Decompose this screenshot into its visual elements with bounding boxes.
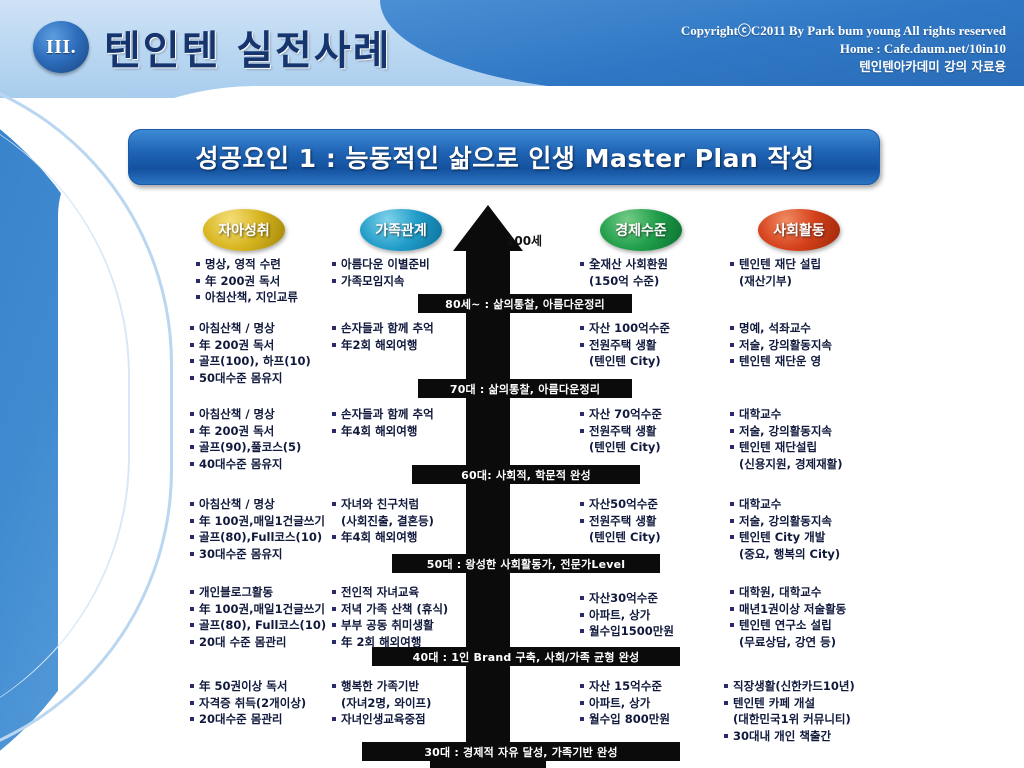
list-item: 손자들과 함께 추억 [332,406,434,423]
list-item: 직장생활(신한카드10년) [724,678,855,695]
list-item: 골프(80),Full코스(10) [190,529,325,546]
cell-social-row4: 대학원, 대학교수 매년1권이상 저술활동 텐인텐 연구소 설립 (무료상담, … [730,584,846,650]
list-item: 텐인텐 재단설립 [730,439,843,456]
list-item: 명예, 석좌교수 [730,320,832,337]
list-item: 손자들과 함께 추억 [332,320,434,337]
arrow-age-label: 100세 [506,232,542,249]
list-item: 전원주택 생활 [580,423,662,440]
list-item: 자산50억수준 [580,496,661,513]
cell-economy-row2: 자산 70억수준 전원주택 생활 (텐인텐 City) [580,406,662,456]
list-item: 자산 100억수준 [580,320,670,337]
list-item: 50대수준 몸유지 [190,370,311,387]
cell-family-row3: 자녀와 친구처럼 (사회진출, 결혼등) 年4회 해외여행 [332,496,434,546]
copyright-line-2: Home : Cafe.daum.net/10in10 [681,40,1006,58]
list-item-sub: (재산기부) [730,273,821,290]
list-item: 年 50권이상 독서 [190,678,306,695]
cell-family-row5: 행복한 가족기반 (자녀2명, 와이프) 자녀인생교육중점 [332,678,431,728]
column-header-label: 가족관계 [375,220,427,240]
list-item: 텐인텐 연구소 설립 [730,617,846,634]
list-item: 아침산책 / 명상 [190,496,325,513]
list-item: 가족모임지속 [332,273,430,290]
list-item: 年 2회 해외여행 [332,634,448,651]
list-item: 40대수준 몸유지 [190,456,301,473]
list-item: 텐인텐 재단 설립 [730,256,821,273]
age-band-80s: 80세~ : 삶의통찰, 아름다운정리 [418,294,632,313]
list-item: 월수입 800만원 [580,711,670,728]
list-item: 행복한 가족기반 [332,678,431,695]
cell-self-row3: 아침산책 / 명상 年 100권,매일1건글쓰기 골프(80),Full코스(1… [190,496,325,562]
list-item: 대학교수 [730,496,840,513]
list-item: 아파트, 상가 [580,607,674,624]
cell-family-row1: 손자들과 함께 추억 年2회 해외여행 [332,320,434,353]
age-band-30s: 30대 : 경제적 자유 달성, 가족기반 완성 [362,742,680,761]
cell-self-row2: 아침산책 / 명상 年 200권 독서 골프(90),풀코스(5) 40대수준 … [190,406,301,472]
copyright-block: CopyrightⓒC2011 By Park bum young All ri… [681,22,1006,76]
cell-economy-row5: 자산 15억수준 아파트, 상가 월수입 800만원 [580,678,670,728]
list-item-sub: (대한민국1위 커뮤니티) [724,711,855,728]
section-number-label: III. [33,21,89,73]
timeline-arrow-stem [466,246,510,756]
list-item: 대학교수 [730,406,843,423]
list-item: 年4회 해외여행 [332,529,434,546]
subtitle-text: 성공요인 1 : 능동적인 삶으로 인생 Master Plan 작성 [129,130,881,184]
list-item: 20대수준 몸관리 [190,711,306,728]
cell-self-row0: 명상, 영적 수련 年 200권 독서 아침산책, 지인교류 [196,256,298,306]
column-header-label: 자아성취 [218,220,270,240]
list-item-sub: (중요, 행복의 City) [730,546,840,563]
list-item-sub: (150억 수준) [580,273,668,290]
cell-social-row0: 텐인텐 재단 설립 (재산기부) [730,256,821,289]
cell-social-row3: 대학교수 저술, 강의활동지속 텐인텐 City 개발 (중요, 행복의 Cit… [730,496,840,562]
list-item-sub: (신용지원, 경제재활) [730,456,843,473]
cell-social-row5: 직장생활(신한카드10년) 텐인텐 카페 개설 (대한민국1위 커뮤니티) 30… [724,678,855,744]
cell-self-row1: 아침산책 / 명상 年 200권 독서 골프(100), 하프(10) 50대수… [190,320,311,386]
list-item: 자산 70억수준 [580,406,662,423]
list-item: 자산30억수준 [580,590,674,607]
column-header-economic-level: 경제수준 [600,209,682,251]
list-item: 年 100권,매일1건글쓰기 [190,601,326,618]
cell-social-row1: 명예, 석좌교수 저술, 강의활동지속 텐인텐 재단운 영 [730,320,832,370]
list-item: 全재산 사회환원 [580,256,668,273]
list-item: 아파트, 상가 [580,695,670,712]
list-item: 자녀와 친구처럼 [332,496,434,513]
list-item: 골프(80), Full코스(10) [190,617,326,634]
list-item: 텐인텐 City 개발 [730,529,840,546]
list-item: 年2회 해외여행 [332,337,434,354]
cell-family-row0: 아름다운 이별준비 가족모임지속 [332,256,430,289]
copyright-line-1: CopyrightⓒC2011 By Park bum young All ri… [681,22,1006,40]
list-item: 월수입1500만원 [580,623,674,640]
cell-social-row2: 대학교수 저술, 강의활동지속 텐인텐 재단설립 (신용지원, 경제재활) [730,406,843,472]
list-item-sub: (텐인텐 City) [580,439,662,456]
column-header-label: 경제수준 [615,220,667,240]
list-item-sub: (사회진출, 결혼등) [332,513,434,530]
column-header-self-achievement: 자아성취 [203,209,285,251]
list-item: 텐인텐 재단운 영 [730,353,832,370]
list-item: 年 100권,매일1건글쓰기 [190,513,325,530]
column-header-social-activity: 사회활동 [758,209,840,251]
list-item: 자격증 취득(2개이상) [190,695,306,712]
list-item: 年 200권 독서 [190,423,301,440]
cell-family-row4: 전인적 자녀교육 저녁 가족 산책 (휴식) 부부 공동 취미생활 年 2회 해… [332,584,448,650]
list-item: 저술, 강의활동지속 [730,337,832,354]
list-item: 골프(100), 하프(10) [190,353,311,370]
list-item: 저녁 가족 산책 (휴식) [332,601,448,618]
copyright-line-3: 텐인텐아카데미 강의 자료용 [681,58,1006,76]
list-item: 텐인텐 카페 개설 [724,695,855,712]
list-item-sub: (자녀2명, 와이프) [332,695,431,712]
list-item: 개인블로그활동 [190,584,326,601]
list-item: 명상, 영적 수련 [196,256,298,273]
list-item: 부부 공동 취미생활 [332,617,448,634]
cell-economy-row0: 全재산 사회환원 (150억 수준) [580,256,668,289]
section-number-badge: III. [33,21,89,73]
list-item: 아름다운 이별준비 [332,256,430,273]
list-item: 아침산책 / 명상 [190,406,301,423]
cell-economy-row3: 자산50억수준 전원주택 생활 (텐인텐 City) [580,496,661,546]
list-item: 年4회 해외여행 [332,423,434,440]
list-item: 자녀인생교육중점 [332,711,431,728]
cell-self-row4: 개인블로그활동 年 100권,매일1건글쓰기 골프(80), Full코스(10… [190,584,326,650]
list-item: 저술, 강의활동지속 [730,423,843,440]
list-item: 자산 15억수준 [580,678,670,695]
list-item: 저술, 강의활동지속 [730,513,840,530]
list-item: 아침산책 / 명상 [190,320,311,337]
list-item: 20대 수준 몸관리 [190,634,326,651]
list-item: 年 200권 독서 [196,273,298,290]
list-item-sub: (텐인텐 City) [580,353,670,370]
cell-self-row5: 年 50권이상 독서 자격증 취득(2개이상) 20대수준 몸관리 [190,678,306,728]
list-item: 아침산책, 지인교류 [196,289,298,306]
age-band-70s: 70대 : 삶의통찰, 아름다운정리 [418,379,632,398]
cell-economy-row4: 자산30억수준 아파트, 상가 월수입1500만원 [580,590,674,640]
list-item: 매년1권이상 저술활동 [730,601,846,618]
column-header-family-relations: 가족관계 [360,209,442,251]
list-item-sub: (무료상담, 강연 등) [730,634,846,651]
list-item: 골프(90),풀코스(5) [190,439,301,456]
list-item: 전원주택 생활 [580,337,670,354]
list-item: 대학원, 대학교수 [730,584,846,601]
list-item: 30대수준 몸유지 [190,546,325,563]
slide-root: III. 텐인텐 실전사례 CopyrightⓒC2011 By Park bu… [0,0,1024,768]
cell-family-row2: 손자들과 함께 추억 年4회 해외여행 [332,406,434,439]
list-item: 전원주택 생활 [580,513,661,530]
list-item: 30대내 개인 책출간 [724,728,855,745]
list-item: 年 200권 독서 [190,337,311,354]
cell-economy-row1: 자산 100억수준 전원주택 생활 (텐인텐 City) [580,320,670,370]
subtitle-bar: 성공요인 1 : 능동적인 삶으로 인생 Master Plan 작성 [128,129,880,185]
list-item-sub: (텐인텐 City) [580,529,661,546]
age-band-60s: 60대: 사회적, 학문적 완성 [412,465,640,484]
list-item: 전인적 자녀교육 [332,584,448,601]
age-band-50s: 50대 : 왕성한 사회활동가, 전문가Level [392,554,660,573]
page-title: 텐인텐 실전사례 [104,18,392,76]
column-header-label: 사회활동 [773,220,825,240]
